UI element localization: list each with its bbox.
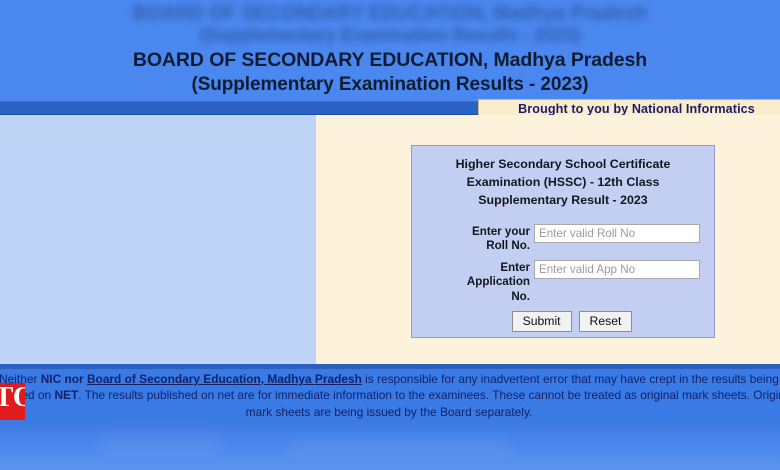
application-no-label-line-2: Application (412, 275, 530, 289)
roll-no-label-line-2: Roll No. (412, 239, 530, 253)
nic-label: NIC (41, 372, 61, 386)
form-heading-line-2: Examination (HSSC) - 12th Class (424, 174, 702, 192)
toi-watermark: TOI (0, 383, 25, 421)
roll-no-input[interactable] (534, 224, 700, 243)
form-field-list: Enter your Roll No. Enter Application No… (412, 222, 714, 332)
ghost-title-line-2: (Supplementary Examination Results - 202… (0, 25, 780, 47)
roll-no-label-line-1: Enter your (412, 225, 530, 239)
roll-no-label: Enter your Roll No. (412, 222, 534, 254)
application-no-field-wrap (534, 258, 700, 279)
page-title: BOARD OF SECONDARY EDUCATION, Madhya Pra… (0, 48, 780, 97)
disclaimer-text: Neither NIC nor Board of Secondary Educa… (0, 369, 780, 420)
page-title-line-2: (Supplementary Examination Results - 202… (0, 73, 780, 97)
roll-no-field-wrap (534, 222, 700, 243)
form-heading-line-1: Higher Secondary School Certificate (424, 156, 702, 174)
application-no-label: Enter Application No. (412, 258, 534, 304)
form-row-roll-no: Enter your Roll No. (412, 222, 714, 254)
form-heading-line-3: Supplementary Result - 2023 (424, 192, 702, 210)
reset-button[interactable]: Reset (579, 311, 633, 332)
toi-watermark-letters: TOI (0, 383, 25, 414)
left-panel (0, 115, 316, 364)
background-smudge-2 (290, 438, 510, 462)
result-page: BOARD OF SECONDARY EDUCATION, Madhya Pra… (0, 0, 780, 470)
page-title-line-1: BOARD OF SECONDARY EDUCATION, Madhya Pra… (0, 48, 780, 73)
form-button-row: Submit Reset (412, 311, 714, 332)
net-label: NET (54, 388, 78, 402)
background-smudge-1 (100, 430, 220, 456)
form-row-application-no: Enter Application No. (412, 258, 714, 304)
disclaimer-mid-2: . The results published on net are for i… (78, 388, 780, 418)
application-no-label-line-3: No. (412, 290, 530, 304)
ghost-title-overlay: BOARD OF SECONDARY EDUCATION, Madhya Pra… (0, 2, 780, 47)
application-no-label-line-1: Enter (412, 261, 530, 275)
result-lookup-form: Higher Secondary School Certificate Exam… (411, 145, 715, 338)
form-heading: Higher Secondary School Certificate Exam… (424, 156, 702, 210)
disclaimer-banner: Neither NIC nor Board of Secondary Educa… (0, 369, 780, 420)
disclaimer-nor: nor (61, 372, 87, 386)
submit-button[interactable]: Submit (512, 311, 572, 332)
application-no-input[interactable] (534, 260, 700, 279)
brought-to-you-label: Brought to you by National Informatics (504, 102, 755, 116)
board-link[interactable]: Board of Secondary Education, Madhya Pra… (87, 372, 362, 386)
page-header: BOARD OF SECONDARY EDUCATION, Madhya Pra… (0, 0, 780, 101)
page-background-bottom (0, 420, 780, 470)
ghost-title-line-1: BOARD OF SECONDARY EDUCATION, Madhya Pra… (0, 2, 780, 25)
